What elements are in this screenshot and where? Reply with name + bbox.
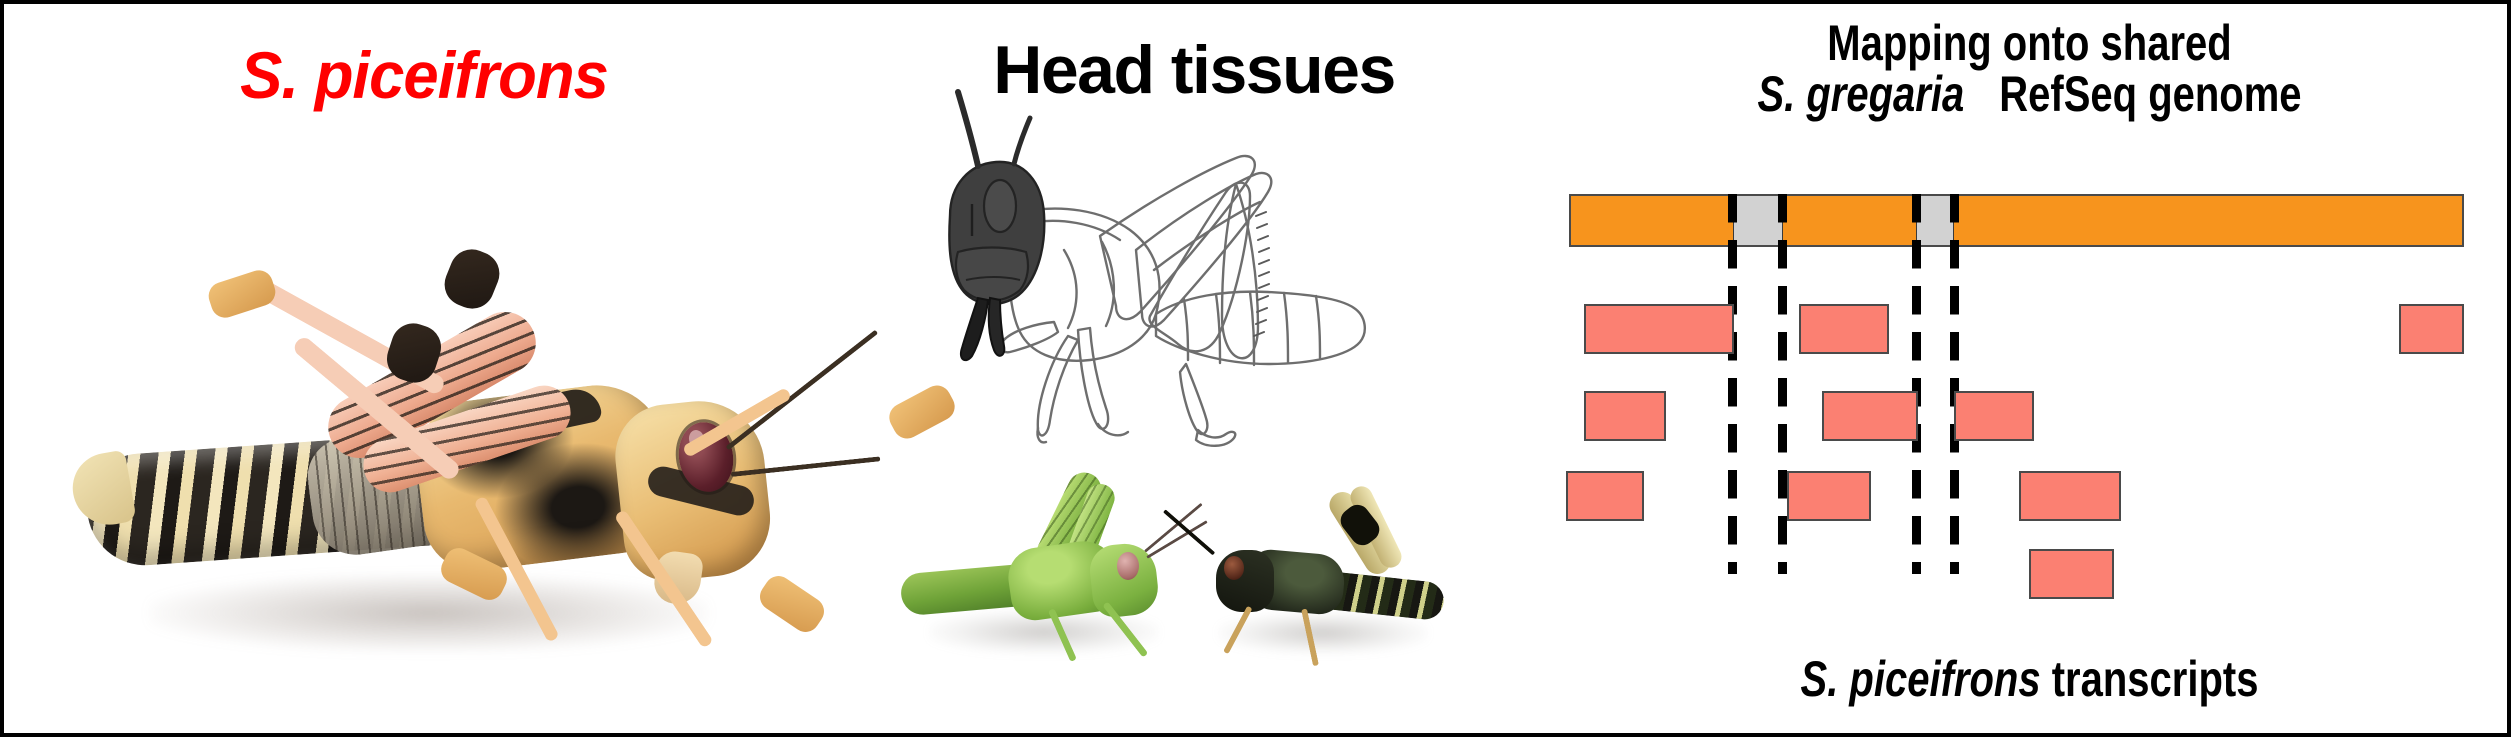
line-hind-foot (1196, 430, 1235, 446)
dark-nymph-shadow (1218, 612, 1428, 654)
transcripts-caption: S. piceifrons transcripts (1641, 654, 2418, 704)
transcript-alignment-area (1544, 4, 2511, 737)
dark-nymph-photo (1192, 504, 1462, 674)
transcript-bar-r2-3 (1954, 391, 2034, 441)
transcripts-caption-species: S. piceifrons (1801, 651, 2041, 707)
line-antenna-right (1014, 118, 1030, 164)
line-hind-tarsus (1180, 364, 1207, 434)
graphical-abstract-figure: S. piceifrons (0, 0, 2511, 737)
line-fore-coxa (1001, 322, 1058, 352)
line-gena (956, 248, 1028, 301)
adult-tarsus-1 (205, 267, 279, 322)
mapping-panel: Mapping onto shared S. gregaria RefSeq g… (1544, 4, 2511, 737)
line-maxillary-palp-1 (961, 298, 988, 360)
transcripts-caption-rest: transcripts (2052, 651, 2259, 707)
species-panel: S. piceifrons (4, 4, 844, 737)
line-compound-eye (984, 180, 1016, 232)
transcript-bar-r2-2 (1822, 391, 1918, 441)
adult-abdomen-tip (67, 450, 137, 531)
line-abd-seg-5 (1316, 296, 1320, 358)
line-maxillary-palp-2 (989, 298, 1005, 356)
transcript-bar-r3-3 (2019, 471, 2121, 521)
line-mid-tarsus (1098, 424, 1128, 435)
green-nymph-eye (1117, 552, 1139, 580)
transcript-bar-r4-1 (2029, 549, 2114, 599)
adult-locust-photo (59, 154, 799, 684)
line-abd-seg-2 (1216, 294, 1220, 363)
adult-locust-shadow (149, 574, 709, 652)
dark-nymph-head (1216, 550, 1274, 612)
line-forewing-1 (1100, 156, 1255, 319)
transcript-bar-r1-3 (2399, 304, 2464, 354)
transcript-bar-r3-2 (1787, 471, 1871, 521)
transcript-bar-r2-1 (1584, 391, 1666, 441)
green-nymph-photo (899, 482, 1199, 672)
transcript-bar-r1-2 (1799, 304, 1889, 354)
line-antenna-left (958, 92, 978, 166)
breakpoint-guide-1 (1728, 194, 1737, 574)
dark-nymph-eye (1224, 556, 1244, 580)
adult-knee-1 (438, 243, 506, 316)
species-title: S. piceifrons (21, 42, 827, 108)
locust-line-drawing (854, 64, 1414, 454)
transcript-bar-r1-1 (1584, 304, 1734, 354)
adult-tarsus-3 (755, 571, 830, 638)
breakpoint-guide-2 (1778, 194, 1787, 574)
transcript-bar-r3-1 (1566, 471, 1644, 521)
line-fore-femur (1038, 336, 1078, 435)
head-tissues-panel: Head tissues (844, 4, 1544, 737)
line-abd-seg-4 (1284, 293, 1288, 363)
breakpoint-guide-4 (1950, 194, 1959, 574)
line-head-shaded (949, 92, 1044, 360)
line-hind-femur (1149, 183, 1250, 352)
line-mid-femur (1078, 328, 1108, 429)
breakpoint-guide-3 (1912, 194, 1921, 574)
line-thorax-suture (1064, 250, 1077, 328)
